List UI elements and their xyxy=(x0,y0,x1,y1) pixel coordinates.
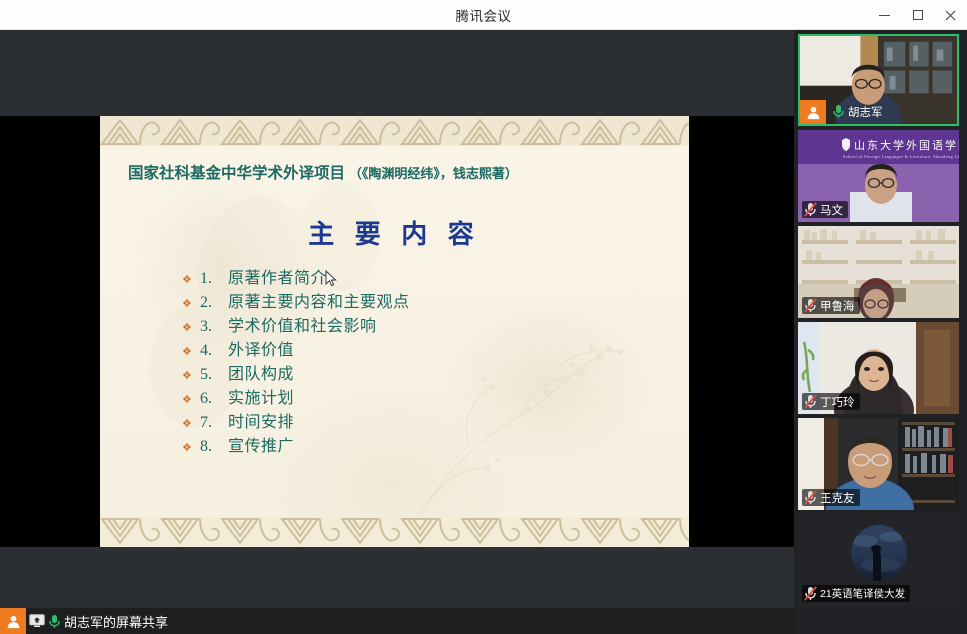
participant-tile-5[interactable]: 21英语笔译侯大发 xyxy=(798,514,959,606)
share-status-content: 胡志军的屏幕共享 xyxy=(26,612,168,631)
participant-name-0: 胡志军 xyxy=(848,104,883,120)
list-item-label: 团队构成 xyxy=(228,360,294,384)
slide-title: 主 要 内 容 xyxy=(100,214,689,251)
microphone-muted-icon xyxy=(804,202,817,217)
screen-share-status-bar: 胡志军的屏幕共享 xyxy=(0,608,794,634)
minimize-icon xyxy=(879,15,890,16)
list-item-number: 1. xyxy=(200,270,228,288)
stage-letterbox-top xyxy=(0,30,794,116)
close-button[interactable] xyxy=(934,0,967,30)
slide-header: 国家社科基金中华学术外译项目 （《陶渊明经纬》，钱志熙著） xyxy=(128,161,668,183)
slide-header-main: 国家社科基金中华学术外译项目 xyxy=(128,165,345,182)
participant-tile-4[interactable]: 王克友 xyxy=(798,418,959,510)
participant-tile-3[interactable]: 丁巧玲 xyxy=(798,322,959,414)
microphone-muted-icon xyxy=(804,298,817,313)
microphone-muted-icon xyxy=(804,490,817,505)
microphone-unmuted-icon xyxy=(48,614,61,629)
list-item-label: 原著作者简介 xyxy=(228,264,327,288)
list-item-number: 7. xyxy=(200,414,228,432)
participant-avatar-badge-0 xyxy=(800,100,826,124)
participant-name-1: 马文 xyxy=(820,202,843,218)
microphone-muted-icon xyxy=(804,586,817,601)
participant-name-chip-5: 21英语笔译侯大发 xyxy=(802,585,910,602)
participant-name-3: 丁巧玲 xyxy=(820,394,855,410)
window-controls xyxy=(868,0,967,30)
microphone-unmuted-icon xyxy=(832,104,845,119)
window-title: 腾讯会议 xyxy=(456,5,512,25)
minimize-button[interactable] xyxy=(868,0,901,30)
participant-name-chip-4: 王克友 xyxy=(802,489,860,506)
list-item: ❖ 4. 外译价值 xyxy=(182,336,622,360)
share-status-label: 胡志军的屏幕共享 xyxy=(64,612,168,631)
mouse-cursor-icon xyxy=(325,270,337,288)
list-item-label: 学术价值和社会影响 xyxy=(228,312,377,336)
diamond-bullet-icon: ❖ xyxy=(182,275,200,286)
list-item: ❖ 6. 实施计划 xyxy=(182,384,622,408)
list-item: ❖ 7. 时间安排 xyxy=(182,408,622,432)
slide-border-bottom xyxy=(100,517,689,547)
participant-avatar-image-5 xyxy=(851,525,907,581)
participant-name-2: 甲鲁海 xyxy=(820,298,855,314)
list-item: ❖ 1. 原著作者简介 xyxy=(182,264,622,288)
shared-screen-stage[interactable]: 国家社科基金中华学术外译项目 （《陶渊明经纬》，钱志熙著） 主 要 内 容 ❖ … xyxy=(0,30,794,634)
diamond-bullet-icon: ❖ xyxy=(182,419,200,430)
list-item: ❖ 2. 原著主要内容和主要观点 xyxy=(182,288,622,312)
list-item-number: 3. xyxy=(200,318,228,336)
list-item-label: 原著主要内容和主要观点 xyxy=(228,288,410,312)
participant-name-chip-3: 丁巧玲 xyxy=(802,393,860,410)
diamond-bullet-icon: ❖ xyxy=(182,371,200,382)
window-titlebar: 腾讯会议 xyxy=(0,0,967,30)
list-item-label: 外译价值 xyxy=(228,336,294,360)
participant-tile-2[interactable]: 甲鲁海 xyxy=(798,226,959,318)
diamond-bullet-icon: ❖ xyxy=(182,323,200,334)
list-item-label: 实施计划 xyxy=(228,384,294,408)
list-item-number: 4. xyxy=(200,342,228,360)
list-item: ❖ 5. 团队构成 xyxy=(182,360,622,384)
participant-name-4: 王克友 xyxy=(820,490,855,506)
list-item-number: 6. xyxy=(200,390,228,408)
list-item-number: 8. xyxy=(200,438,228,456)
participant-name-chip-1: 马文 xyxy=(802,201,848,218)
list-item: ❖ 8. 宣传推广 xyxy=(182,432,622,456)
person-icon xyxy=(6,614,21,629)
participant-name-chip-2: 甲鲁海 xyxy=(802,297,860,314)
slide-bullet-list: ❖ 1. 原著作者简介 ❖ 2. 原著主要内容和主要观点 ❖ 3. 学术价值和社… xyxy=(182,264,622,456)
participant-name-chip-0: 胡志军 xyxy=(830,103,888,120)
list-item-label: 宣传推广 xyxy=(228,432,294,456)
diamond-bullet-icon: ❖ xyxy=(182,443,200,454)
diamond-bullet-icon: ❖ xyxy=(182,395,200,406)
diamond-bullet-icon: ❖ xyxy=(182,347,200,358)
participant-rail[interactable]: 胡志军 山东大学外国语学院 School of Foreign Language… xyxy=(794,30,967,634)
slide-border-top xyxy=(100,116,689,146)
list-item: ❖ 3. 学术价值和社会影响 xyxy=(182,312,622,336)
tencent-meeting-window: 腾讯会议 xyxy=(0,0,967,634)
list-item-number: 5. xyxy=(200,366,228,384)
person-icon xyxy=(806,105,821,120)
sharer-avatar xyxy=(0,608,26,634)
screen-share-icon xyxy=(29,614,45,628)
participant-tile-1[interactable]: 山东大学外国语学院 School of Foreign Languages & … xyxy=(798,130,959,222)
slide-header-sub: （《陶渊明经纬》，钱志熙著） xyxy=(349,166,518,181)
diamond-bullet-icon: ❖ xyxy=(182,299,200,310)
maximize-button[interactable] xyxy=(901,0,934,30)
participant-tile-0[interactable]: 胡志军 xyxy=(798,34,959,126)
maximize-icon xyxy=(913,10,923,20)
svg-text:山东大学外国语学院: 山东大学外国语学院 xyxy=(854,138,959,152)
participant-name-5: 21英语笔译侯大发 xyxy=(820,586,905,601)
list-item-number: 2. xyxy=(200,294,228,312)
presentation-slide: 国家社科基金中华学术外译项目 （《陶渊明经纬》，钱志熙著） 主 要 内 容 ❖ … xyxy=(100,116,689,547)
list-item-label: 时间安排 xyxy=(228,408,294,432)
close-icon xyxy=(945,10,956,21)
microphone-muted-icon xyxy=(804,394,817,409)
